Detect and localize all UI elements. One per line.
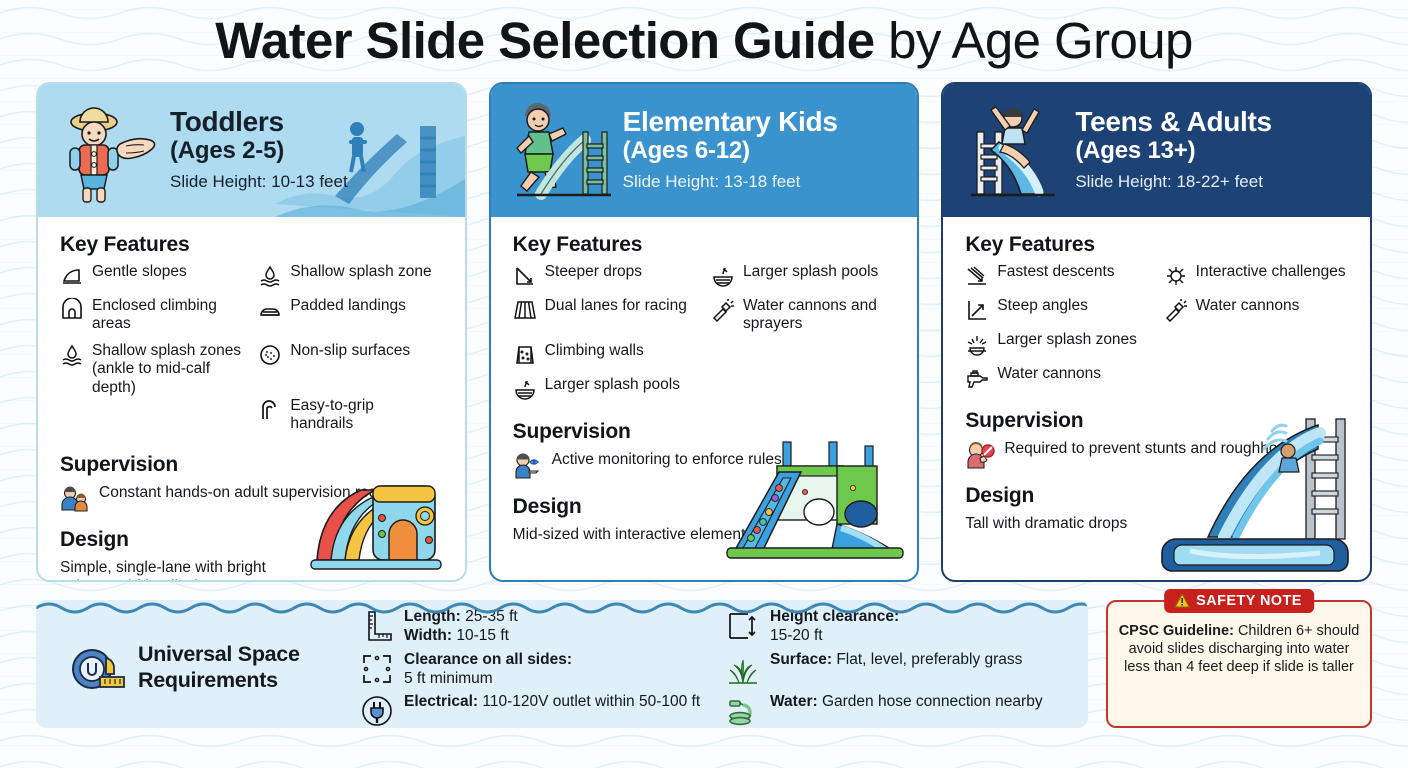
requirement-value: Flat, level, preferably grass [836, 651, 1022, 668]
feature-item: Larger splash pools [513, 376, 701, 401]
feature-item [711, 342, 899, 367]
teens-tall-slide-illustration [1146, 411, 1366, 576]
watching-person-eye-icon [513, 451, 543, 481]
safety-note-badge-label: SAFETY NOTE [1196, 593, 1302, 609]
water-cannon-icon [1164, 298, 1188, 322]
requirement-item: Water: Garden hose connection nearby [726, 692, 1070, 727]
card-elementary[interactable]: Elementary Kids (Ages 6-12) Slide Height… [489, 82, 920, 582]
feature-item: Water cannons and sprayers [711, 297, 899, 334]
feature-item: Water cannons [965, 365, 1153, 390]
card-age-range: (Ages 6-12) [623, 137, 838, 166]
feature-item: Interactive challenges [1164, 263, 1352, 288]
requirement-item: Electrical: 110-120V outlet within 50-10… [360, 692, 704, 727]
feature-label: Gentle slopes [92, 263, 187, 281]
safety-note-badge: SAFETY NOTE [1164, 589, 1314, 613]
person-stop-sign-icon [965, 440, 995, 470]
key-features-heading: Key Features [60, 233, 447, 257]
universal-space-requirements-panel: Universal Space Requirements Length: 25-… [36, 600, 1088, 728]
feature-label-main: Easy-to-grip [290, 397, 374, 414]
feature-label: Easy-to-grip handrails [290, 397, 374, 434]
fast-descent-icon [965, 264, 989, 288]
feature-label: Larger splash pools [545, 376, 680, 394]
design-text: Simple, single-lane with bright colors a… [60, 558, 310, 582]
adult-and-child-icon [60, 484, 90, 514]
water-drop-waves-icon [60, 343, 84, 367]
card-slide-height: Slide Height: 18-22+ feet [1075, 169, 1272, 195]
card-title: Elementary Kids [623, 106, 838, 137]
feature-label: Larger splash pools [743, 263, 878, 281]
age-group-cards: Toddlers (Ages 2-5) Slide Height: 10-13 … [36, 82, 1372, 582]
feature-label: Climbing walls [545, 342, 644, 360]
card-header-text-teens: Teens & Adults (Ages 13+) Slide Height: … [1067, 106, 1272, 195]
card-age-range: (Ages 2-5) [170, 137, 348, 166]
feature-label: Shallow splash zones (ankle to mid-calf … [92, 342, 248, 397]
steep-angle-icon [965, 298, 989, 322]
feature-item: Enclosed climbing areas [60, 297, 248, 334]
electrical-plug-icon [360, 694, 394, 727]
toddler-slide-illustration [301, 456, 461, 576]
feature-label-main: Shallow splash zones [92, 342, 241, 359]
garden-hose-icon [726, 694, 760, 727]
requirement-label-2: Width: [404, 627, 452, 644]
feature-label: Water cannons [997, 365, 1101, 383]
interactive-challenge-icon [1164, 264, 1188, 288]
requirement-text: Clearance on all sides: 5 ft minimum [404, 650, 572, 689]
card-header-elementary: Elementary Kids (Ages 6-12) Slide Height… [491, 84, 918, 217]
feature-label: Shallow splash zone [290, 263, 431, 281]
page-title-strong: Water Slide Selection Guide [215, 12, 874, 69]
wave-divider [36, 600, 1088, 614]
requirement-value-2: 10-15 ft [456, 627, 509, 644]
universal-title-line2: Requirements [138, 668, 300, 693]
feature-item: Water cannons [1164, 297, 1352, 322]
dual-lane-icon [513, 298, 537, 322]
feature-label: Fastest descents [997, 263, 1114, 281]
feature-item: Larger splash zones [965, 331, 1153, 356]
feature-label: Padded landings [290, 297, 406, 315]
feature-item: Shallow splash zone [258, 263, 446, 288]
feature-item: Gentle slopes [60, 263, 248, 288]
enclosed-structure-icon [60, 298, 84, 322]
feature-item: Easy-to-grip handrails [258, 397, 446, 434]
feature-label-main: Water cannons and [743, 297, 877, 314]
clearance-sides-icon [360, 652, 394, 686]
requirement-label: Water: [770, 693, 818, 710]
page-title-light: by Age Group [888, 12, 1193, 69]
card-title: Teens & Adults [1075, 106, 1272, 137]
safety-note-text: CPSC Guideline: Children 6+ should avoid… [1118, 622, 1360, 677]
card-body-teens: Key Features Fastest descents Interactiv… [943, 217, 1370, 580]
requirement-value: 5 ft minimum [404, 670, 493, 687]
universal-title: Universal Space Requirements [138, 642, 300, 693]
steep-drop-icon [513, 264, 537, 288]
requirement-text: Water: Garden hose connection nearby [770, 692, 1043, 711]
feature-label: Steep angles [997, 297, 1088, 315]
feature-item: Shallow splash zones (ankle to mid-calf … [60, 342, 248, 397]
safety-note-box: SAFETY NOTE CPSC Guideline: Children 6+ … [1106, 600, 1372, 728]
card-title: Toddlers [170, 106, 348, 137]
water-cannon-icon [711, 298, 735, 322]
card-header-text-toddlers: Toddlers (Ages 2-5) Slide Height: 10-13 … [162, 106, 348, 195]
card-toddlers[interactable]: Toddlers (Ages 2-5) Slide Height: 10-13 … [36, 82, 467, 582]
climbing-wall-icon [513, 343, 537, 367]
padded-mat-icon [258, 298, 282, 322]
requirement-text: Surface: Flat, level, preferably grass [770, 650, 1022, 669]
feature-item: Dual lanes for racing [513, 297, 701, 334]
feature-label: Non-slip surfaces [290, 342, 410, 360]
feature-label: Dual lanes for racing [545, 297, 687, 315]
feature-label-sub: sprayers [743, 315, 877, 333]
card-body-toddlers: Key Features Gentle slopes Shallow splas… [38, 217, 465, 580]
requirement-label: Clearance on all sides: [404, 651, 572, 668]
feature-label: Larger splash zones [997, 331, 1137, 349]
card-teens-adults[interactable]: Teens & Adults (Ages 13+) Slide Height: … [941, 82, 1372, 582]
handrail-icon [258, 398, 282, 422]
safety-note-lead: CPSC Guideline: [1119, 623, 1234, 639]
card-slide-height: Slide Height: 13-18 feet [623, 169, 838, 195]
splash-pool-icon [711, 264, 735, 288]
slope-icon [60, 264, 84, 288]
feature-label: Interactive challenges [1196, 263, 1346, 281]
feature-item: Climbing walls [513, 342, 701, 367]
kid-running-slide-icon [507, 96, 615, 204]
grass-icon [726, 652, 760, 686]
feature-item [1164, 331, 1352, 356]
feature-item: Larger splash pools [711, 263, 899, 288]
features-grid: Gentle slopes Shallow splash zone Enclos… [60, 263, 447, 443]
requirement-item: Surface: Flat, level, preferably grass [726, 650, 1070, 689]
universal-title-block: Universal Space Requirements [54, 642, 354, 693]
teen-on-slide-icon [959, 96, 1067, 204]
ruler-icon [360, 609, 394, 643]
height-clearance-icon [726, 609, 760, 643]
requirement-value: Garden hose connection nearby [822, 693, 1043, 710]
bottom-row: Universal Space Requirements Length: 25-… [36, 600, 1372, 728]
card-body-elementary: Key Features Steeper drops Larger splash… [491, 217, 918, 580]
universal-title-line1: Universal Space [138, 642, 300, 667]
requirement-text: Electrical: 110-120V outlet within 50-10… [404, 692, 700, 711]
feature-label: Water cannons [1196, 297, 1300, 315]
feature-label: Water cannons and sprayers [743, 297, 877, 334]
elementary-playset-illustration [713, 426, 913, 576]
feature-label: Enclosed climbing areas [92, 297, 248, 334]
universal-items-grid: Length: 25-35 ft Width: 10-15 ft Height … [360, 607, 1070, 728]
feature-item [60, 406, 248, 434]
feature-item: Padded landings [258, 297, 446, 334]
feature-item: Steeper drops [513, 263, 701, 288]
feature-item: Fastest descents [965, 263, 1153, 288]
feature-label: Steeper drops [545, 263, 642, 281]
requirement-label: Surface: [770, 651, 832, 668]
requirement-item: Clearance on all sides: 5 ft minimum [360, 650, 704, 689]
page-title: Water Slide Selection Guide by Age Group [36, 0, 1372, 82]
features-grid: Steeper drops Larger splash pools Dual l… [513, 263, 900, 411]
card-slide-height: Slide Height: 10-13 feet [170, 169, 348, 195]
toddler-with-hand-icon [54, 96, 162, 204]
splash-zone-icon [965, 332, 989, 356]
tape-measure-icon [70, 643, 126, 693]
feature-label-sub: (ankle to mid-calf depth) [92, 360, 248, 397]
warning-triangle-icon [1174, 593, 1190, 608]
key-features-heading: Key Features [965, 233, 1352, 257]
requirement-value: 15-20 ft [770, 627, 823, 644]
requirement-label: Electrical: [404, 693, 478, 710]
card-header-text-elementary: Elementary Kids (Ages 6-12) Slide Height… [615, 106, 838, 195]
splash-pool-icon [513, 377, 537, 401]
feature-label-sub: handrails [290, 415, 374, 433]
textured-circle-icon [258, 343, 282, 367]
features-grid: Fastest descents Interactive challenges … [965, 263, 1352, 399]
card-age-range: (Ages 13+) [1075, 137, 1272, 166]
requirement-value: 110-120V outlet within 50-100 ft [482, 693, 700, 710]
card-header-teens: Teens & Adults (Ages 13+) Slide Height: … [943, 84, 1370, 217]
water-drop-waves-icon [258, 264, 282, 288]
feature-item: Steep angles [965, 297, 1153, 322]
water-gun-icon [965, 366, 989, 390]
key-features-heading: Key Features [513, 233, 900, 257]
feature-item: Non-slip surfaces [258, 342, 446, 397]
card-header-toddlers: Toddlers (Ages 2-5) Slide Height: 10-13 … [38, 84, 465, 217]
